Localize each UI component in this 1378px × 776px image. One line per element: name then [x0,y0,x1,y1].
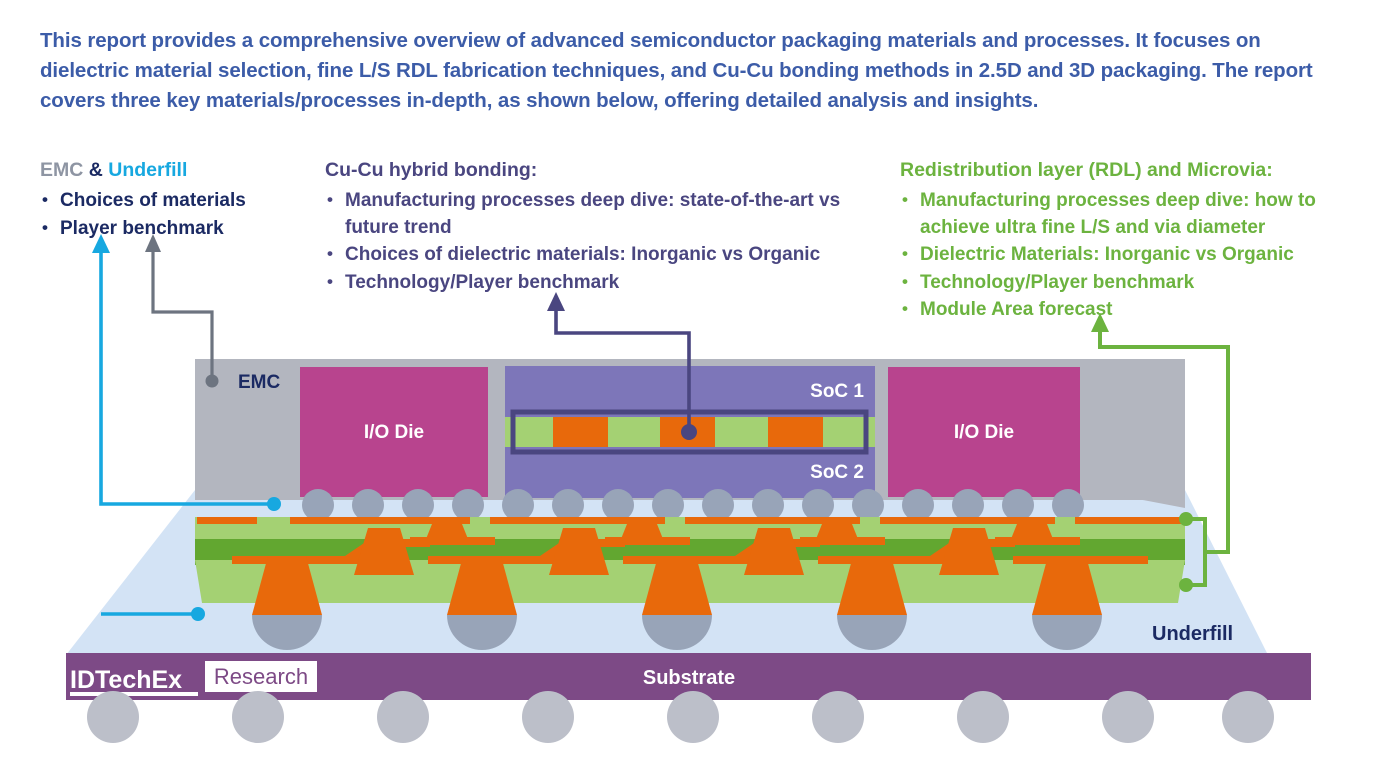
solder-ball [1102,691,1154,743]
solder-ball [852,489,884,521]
leader-endpoint-dot [191,607,205,621]
package-cross-section-diagram: I/O Die I/O Die EMC SoC 1 SoC 2 [0,0,1378,776]
solder-ball [952,489,984,521]
solder-ball [352,489,384,521]
solder-ball [702,489,734,521]
leader-endpoint-dot [1179,578,1193,592]
solder-ball [552,489,584,521]
io-die-left-label: I/O Die [364,422,424,443]
arrowhead [92,234,110,253]
solder-ball [402,489,434,521]
bond-segment-orange [768,417,823,447]
emc-label: EMC [238,372,281,393]
cu-trace [290,517,470,524]
solder-ball [1222,691,1274,743]
solder-ball [522,691,574,743]
underfill-label: Underfill [1152,623,1233,645]
cu-trace [197,517,257,524]
arrowhead [1091,313,1109,332]
solder-ball [667,691,719,743]
solder-ball [652,489,684,521]
leader-endpoint-dot [267,497,281,511]
solder-ball [902,489,934,521]
soc1-label: SoC 1 [810,381,864,402]
solder-ball [802,489,834,521]
solder-ball [377,691,429,743]
logo-brand-text: IDTechEx [70,666,182,694]
cu-trace [1075,517,1190,524]
bond-segment-orange [553,417,608,447]
substrate-label: Substrate [643,667,735,689]
cu-trace [685,517,860,524]
solder-ball [812,691,864,743]
solder-ball [1052,489,1084,521]
leader-endpoint-dot [206,375,219,388]
solder-ball [957,691,1009,743]
leader-endpoint-dot [1179,512,1193,526]
solder-ball [87,691,139,743]
logo-underline [70,692,198,696]
io-die-right-label: I/O Die [954,422,1014,443]
arrowhead [547,292,565,311]
cu-trace [490,517,665,524]
cu-trace [880,517,1055,524]
soc2-label: SoC 2 [810,462,864,483]
arrowhead [145,234,161,252]
solder-ball [752,489,784,521]
leader-endpoint-dot [681,424,697,440]
solder-ball [302,489,334,521]
solder-ball [1002,489,1034,521]
solder-ball [602,489,634,521]
solder-ball [452,489,484,521]
solder-ball [502,489,534,521]
solder-ball [232,691,284,743]
logo-suffix-text: Research [214,664,308,689]
